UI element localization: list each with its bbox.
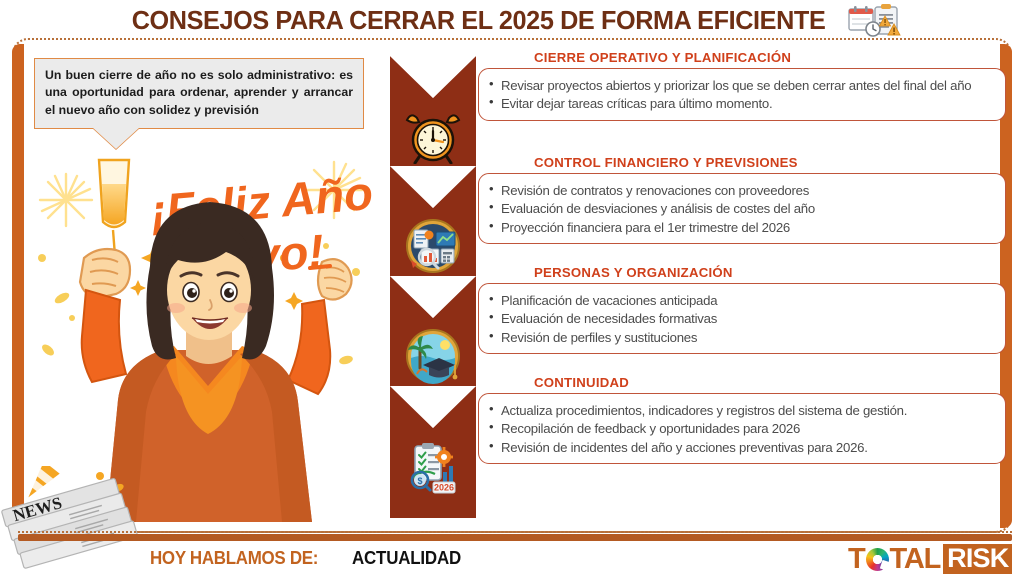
list-item: Revisar proyectos abiertos y priorizar l… (489, 77, 993, 94)
list-item: Proyección financiera para el 1er trimes… (489, 219, 993, 236)
callout-tail (92, 127, 140, 149)
total-risk-logo[interactable]: T TAL RISK (848, 544, 1012, 574)
calendar-clipboard-clock-warning-icon (847, 2, 903, 38)
bullet-list: Actualiza procedimientos, indicadores y … (489, 402, 993, 456)
frame-accent-bar-left (12, 44, 24, 528)
logo-text-tal: TAL (890, 545, 941, 574)
chevron-column: $ 2026 (390, 56, 476, 518)
footer-label: HOY HABLAMOS DE: (150, 548, 318, 569)
infographic-page: CONSEJOS PARA CERRAR EL 2025 DE FORMA EF… (0, 0, 1024, 576)
rainbow-circle-icon (866, 548, 889, 571)
financial-analysis-icon (405, 218, 461, 274)
footer-divider-dots (18, 531, 1012, 533)
section-body: Revisar proyectos abiertos y priorizar l… (478, 68, 1006, 121)
list-item: Revisión de perfiles y sustituciones (489, 329, 993, 346)
footer-topic: ACTUALIDAD (352, 548, 461, 569)
section-title: CONTINUIDAD (478, 375, 1006, 390)
section-title: CONTROL FINANCIERO Y PREVISIONES (478, 155, 1006, 170)
bullet-list: Revisión de contratos y renovaciones con… (489, 182, 993, 236)
page-header: CONSEJOS PARA CERRAR EL 2025 DE FORMA EF… (0, 0, 1024, 40)
list-item: Actualiza procedimientos, indicadores y … (489, 402, 993, 419)
section-body: Revisión de contratos y renovaciones con… (478, 173, 1006, 244)
list-item: Recopilación de feedback y oportunidades… (489, 420, 993, 437)
alarm-clock-icon (405, 108, 461, 164)
section-personas-organizacion: PERSONAS Y ORGANIZACIÓN Planificación de… (478, 265, 1006, 354)
page-title: CONSEJOS PARA CERRAR EL 2025 DE FORMA EF… (132, 5, 826, 36)
vacation-graduation-icon (405, 328, 461, 384)
svg-text:2026: 2026 (434, 483, 454, 493)
list-item: Revisión de contratos y renovaciones con… (489, 182, 993, 199)
list-item: Evitar dejar tareas críticas para último… (489, 95, 993, 112)
section-title: CIERRE OPERATIVO Y PLANIFICACIÓN (478, 50, 1006, 65)
bullet-list: Revisar proyectos abiertos y priorizar l… (489, 77, 993, 113)
section-control-financiero: CONTROL FINANCIERO Y PREVISIONES Revisió… (478, 155, 1006, 244)
intro-callout: Un buen cierre de año no es solo adminis… (34, 58, 364, 129)
clipboard-checklist-2026-icon: $ 2026 (405, 438, 461, 494)
section-title: PERSONAS Y ORGANIZACIÓN (478, 265, 1006, 280)
section-cierre-operativo: CIERRE OPERATIVO Y PLANIFICACIÓN Revisar… (478, 50, 1006, 121)
section-body: Planificación de vacaciones anticipada E… (478, 283, 1006, 354)
list-item: Evaluación de desviaciones y análisis de… (489, 200, 993, 217)
logo-text-t: T (848, 545, 865, 574)
bullet-list: Planificación de vacaciones anticipada E… (489, 292, 993, 346)
section-body: Actualiza procedimientos, indicadores y … (478, 393, 1006, 464)
list-item: Planificación de vacaciones anticipada (489, 292, 993, 309)
intro-callout-text: Un buen cierre de año no es solo adminis… (45, 67, 353, 119)
section-continuidad: CONTINUIDAD Actualiza procedimientos, in… (478, 375, 1006, 464)
svg-text:$: $ (417, 476, 422, 486)
footer-divider (18, 534, 1012, 541)
list-item: Revisión de incidentes del año y accione… (489, 439, 993, 456)
list-item: Evaluación de necesidades formativas (489, 310, 993, 327)
logo-text-risk: RISK (943, 544, 1012, 574)
